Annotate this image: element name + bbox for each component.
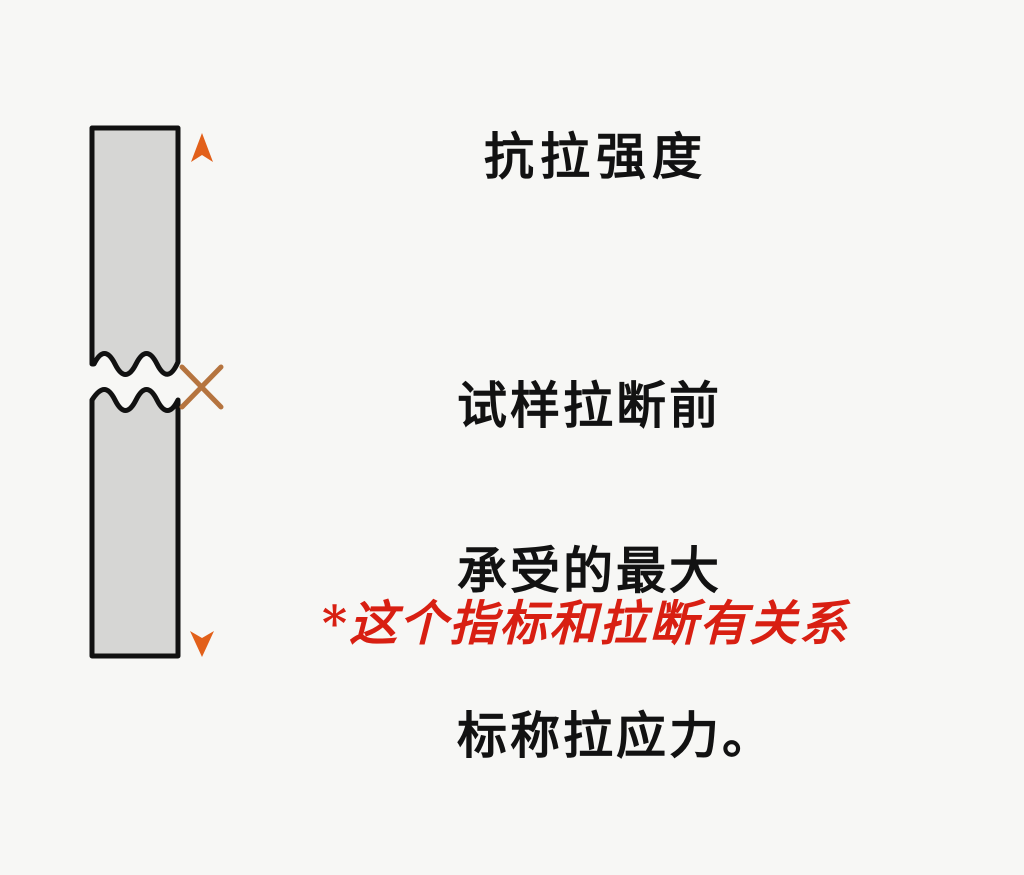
tensile-force-up-arrow	[191, 133, 213, 217]
definition-line-2: 承受的最大	[457, 543, 775, 598]
page-title: 抗拉强度	[484, 128, 708, 186]
upper-specimen-half	[92, 128, 178, 375]
definition-line-1: 试样拉断前	[457, 378, 775, 433]
slide-canvas: 抗拉强度 试样拉断前 承受的最大 标称拉应力。 *这个指标和拉断有关系	[0, 0, 1024, 768]
highlight-note: *这个指标和拉断有关系	[322, 596, 849, 652]
tensile-specimen-fracture-diagram	[60, 100, 320, 680]
definition-line-3: 标称拉应力。	[457, 708, 775, 763]
definition-text-block: 试样拉断前 承受的最大 标称拉应力。	[457, 268, 775, 873]
lower-specimen-half	[92, 390, 178, 657]
tensile-force-down-arrow	[190, 588, 214, 657]
break-cross-mark	[182, 367, 221, 407]
